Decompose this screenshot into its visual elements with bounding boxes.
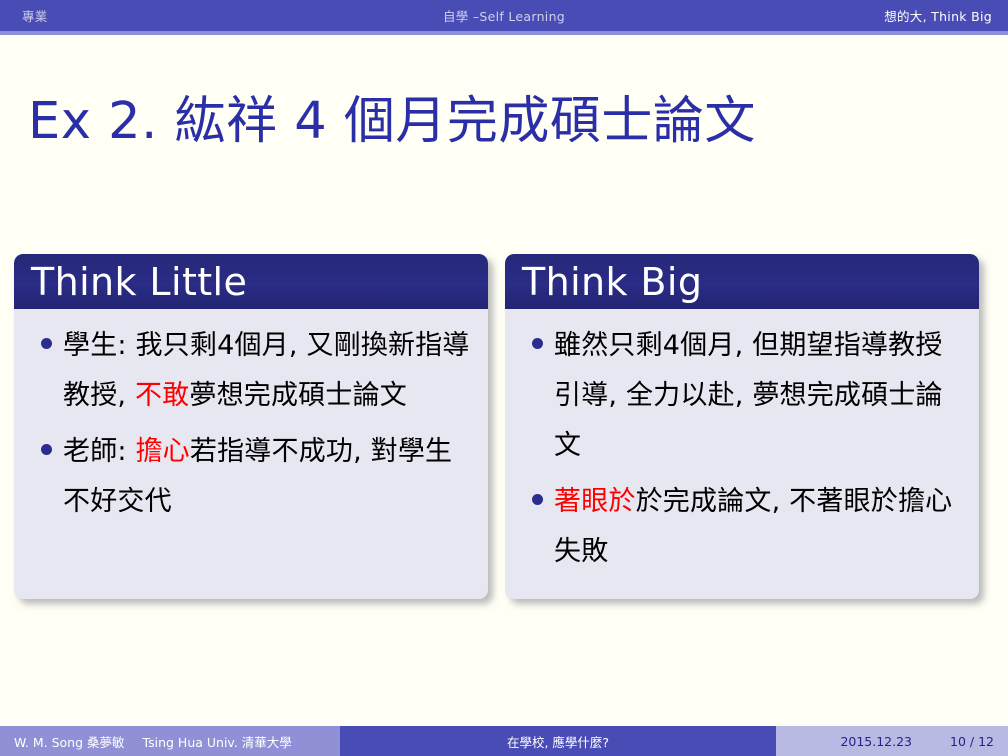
card-think-little-body: 學生: 我只剩4個月, 又剛換新指導教授, 不敢夢想完成碩士論文 老師: 擔心若… bbox=[14, 309, 488, 592]
card-think-big: Think Big 雖然只剩4個月, 但期望指導教授引導, 全力以赴, 夢想完成… bbox=[505, 254, 979, 599]
list-item: 雖然只剩4個月, 但期望指導教授引導, 全力以赴, 夢想完成碩士論文 bbox=[511, 321, 969, 471]
text-segment-highlight: 不敢 bbox=[135, 380, 189, 411]
header-underline bbox=[0, 31, 1008, 35]
footer-page-number: 10 / 12 bbox=[950, 734, 994, 749]
page-title: Ex 2. 紘祥 4 個月完成碩士論文 bbox=[28, 91, 756, 153]
footer-bar: W. M. Song 桑夢敏 Tsing Hua Univ. 清華大學 在學校,… bbox=[0, 726, 1008, 756]
footer-author: W. M. Song 桑夢敏 bbox=[14, 732, 125, 751]
bullet-dot-icon bbox=[41, 444, 52, 455]
text-segment: 雖然只剩4個月, 但期望指導教授引導, 全力以赴, 夢想完成碩士論文 bbox=[554, 330, 943, 461]
bullet-dot-icon bbox=[532, 494, 543, 505]
footer-affiliation: Tsing Hua Univ. 清華大學 bbox=[143, 732, 292, 751]
list-item-text: 雖然只剩4個月, 但期望指導教授引導, 全力以赴, 夢想完成碩士論文 bbox=[554, 321, 969, 471]
list-item-text: 著眼於於完成論文, 不著眼於擔心失敗 bbox=[554, 477, 969, 577]
card-think-big-header: Think Big bbox=[505, 254, 979, 309]
footer-right-section: 2015.12.23 10 / 12 bbox=[776, 726, 1008, 756]
text-segment: 夢想完成碩士論文 bbox=[189, 380, 407, 411]
list-item: 學生: 我只剩4個月, 又剛換新指導教授, 不敢夢想完成碩士論文 bbox=[20, 321, 478, 421]
header-center-label: 自學 –Self Learning bbox=[0, 6, 1008, 25]
card-think-little-header: Think Little bbox=[14, 254, 488, 309]
footer-center-section: 在學校, 應學什麼? bbox=[340, 726, 776, 756]
bullet-dot-icon bbox=[41, 338, 52, 349]
card-think-big-title: Think Big bbox=[522, 262, 702, 302]
text-segment: 老師: bbox=[63, 436, 135, 467]
card-think-little-title: Think Little bbox=[31, 262, 247, 302]
footer-center-label: 在學校, 應學什麼? bbox=[507, 732, 609, 751]
top-header-bar: 專業 自學 –Self Learning 想的大, Think Big bbox=[0, 0, 1008, 31]
card-think-little: Think Little 學生: 我只剩4個月, 又剛換新指導教授, 不敢夢想完… bbox=[14, 254, 488, 599]
comparison-cards: Think Little 學生: 我只剩4個月, 又剛換新指導教授, 不敢夢想完… bbox=[14, 254, 980, 599]
list-item: 老師: 擔心若指導不成功, 對學生不好交代 bbox=[20, 427, 478, 527]
card-think-big-body: 雖然只剩4個月, 但期望指導教授引導, 全力以赴, 夢想完成碩士論文 著眼於於完… bbox=[505, 309, 979, 599]
list-item-text: 學生: 我只剩4個月, 又剛換新指導教授, 不敢夢想完成碩士論文 bbox=[63, 321, 478, 421]
list-item: 著眼於於完成論文, 不著眼於擔心失敗 bbox=[511, 477, 969, 577]
header-right-label: 想的大, Think Big bbox=[884, 6, 992, 25]
bullet-dot-icon bbox=[532, 338, 543, 349]
text-segment-highlight: 擔心 bbox=[135, 436, 189, 467]
footer-left-section: W. M. Song 桑夢敏 Tsing Hua Univ. 清華大學 bbox=[0, 726, 340, 756]
footer-date: 2015.12.23 bbox=[840, 734, 912, 749]
text-segment-highlight: 著眼於 bbox=[554, 486, 636, 517]
list-item-text: 老師: 擔心若指導不成功, 對學生不好交代 bbox=[63, 427, 478, 527]
